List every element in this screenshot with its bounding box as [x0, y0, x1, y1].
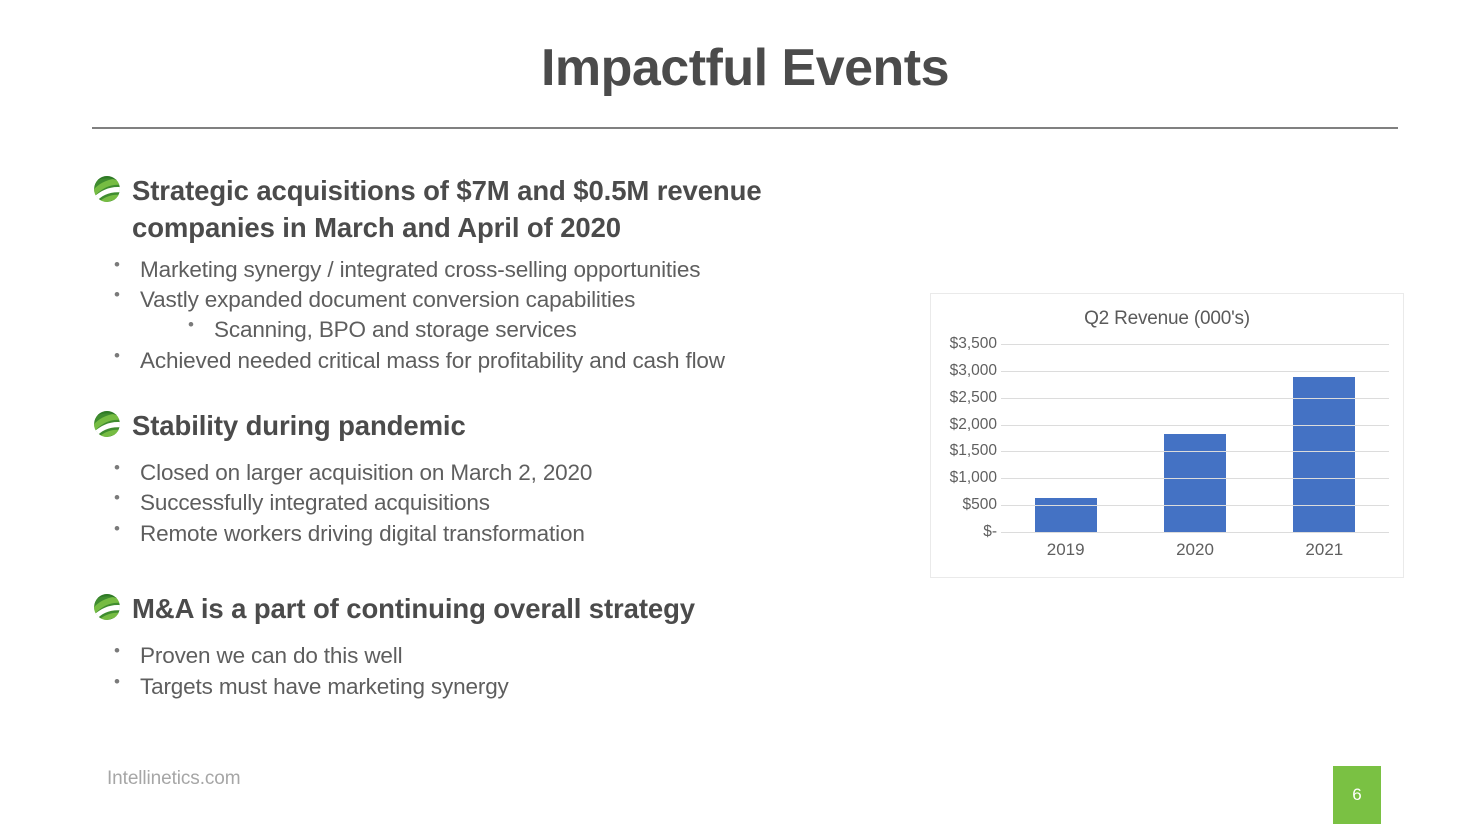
chart-title: Q2 Revenue (000's): [931, 308, 1403, 330]
chart-x-axis-labels: 201920202021: [1001, 540, 1389, 560]
chart-gridline: [1001, 505, 1389, 506]
list-item: Successfully integrated acquisitions: [92, 488, 902, 517]
chart-gridline: [1001, 398, 1389, 399]
bullet-list: Proven we can do this well Targets must …: [92, 641, 902, 701]
list-item: Marketing synergy / integrated cross-sel…: [92, 255, 902, 284]
chart-bar-slot: [1001, 344, 1130, 532]
chart-bar: [1293, 377, 1355, 532]
page-title: Impactful Events: [92, 40, 1398, 97]
chart-y-tick-label: $-: [983, 523, 997, 541]
revenue-bar-chart: Q2 Revenue (000's) $-$500$1,000$1,500$2,…: [930, 293, 1404, 578]
bullet-list: Marketing synergy / integrated cross-sel…: [92, 255, 902, 375]
chart-y-tick-label: $1,000: [950, 469, 997, 487]
list-item: Remote workers driving digital transform…: [92, 519, 902, 548]
title-divider: [92, 127, 1398, 129]
chart-y-tick-label: $3,500: [950, 335, 997, 353]
chart-gridline: [1001, 344, 1389, 345]
list-item: Closed on larger acquisition on March 2,…: [92, 458, 902, 487]
list-item: Vastly expanded document conversion capa…: [92, 285, 902, 314]
chart-gridline: [1001, 425, 1389, 426]
chart-y-tick-label: $2,000: [950, 416, 997, 434]
chart-bar-slot: [1260, 344, 1389, 532]
chart-y-tick-label: $3,000: [950, 362, 997, 380]
section-heading-row: Strategic acquisitions of $7M and $0.5M …: [92, 172, 902, 247]
list-item: Targets must have marketing synergy: [92, 672, 902, 701]
chart-x-tick-label: 2019: [1001, 540, 1130, 560]
intellinetics-globe-icon: [92, 592, 122, 622]
chart-y-tick-label: $2,500: [950, 389, 997, 407]
page-number-badge: 6: [1333, 766, 1381, 824]
section-stability-during-pandemic: Stability during pandemic Closed on larg…: [92, 407, 902, 548]
chart-gridline: [1001, 478, 1389, 479]
chart-bars: [1001, 344, 1389, 532]
footer-website-link[interactable]: Intellinetics.com: [107, 768, 240, 790]
chart-y-axis-labels: $-$500$1,000$1,500$2,000$2,500$3,000$3,5…: [931, 344, 997, 532]
chart-bar: [1164, 434, 1226, 532]
chart-gridline: [1001, 451, 1389, 452]
slide: Impactful Events: [0, 0, 1467, 825]
section-heading-text: M&A is a part of continuing overall stra…: [132, 590, 695, 627]
section-heading-row: M&A is a part of continuing overall stra…: [92, 590, 902, 627]
list-item-sub: Scanning, BPO and storage services: [92, 315, 902, 344]
list-item: Proven we can do this well: [92, 641, 902, 670]
section-heading-text: Strategic acquisitions of $7M and $0.5M …: [132, 172, 902, 247]
chart-gridline: [1001, 371, 1389, 372]
section-strategic-acquisitions: Strategic acquisitions of $7M and $0.5M …: [92, 172, 902, 375]
intellinetics-globe-icon: [92, 174, 122, 204]
content-column: Strategic acquisitions of $7M and $0.5M …: [92, 172, 902, 703]
section-mna-strategy: M&A is a part of continuing overall stra…: [92, 590, 902, 701]
section-heading-row: Stability during pandemic: [92, 407, 902, 444]
list-item: Achieved needed critical mass for profit…: [92, 346, 902, 375]
intellinetics-globe-icon: [92, 409, 122, 439]
chart-plot-area: $-$500$1,000$1,500$2,000$2,500$3,000$3,5…: [931, 344, 1405, 579]
chart-grid: [1001, 344, 1389, 532]
chart-x-tick-label: 2020: [1130, 540, 1259, 560]
bullet-list: Closed on larger acquisition on March 2,…: [92, 458, 902, 548]
section-heading-text: Stability during pandemic: [132, 407, 466, 444]
chart-x-tick-label: 2021: [1260, 540, 1389, 560]
chart-bar: [1035, 498, 1097, 532]
chart-y-tick-label: $500: [963, 496, 997, 514]
chart-bar-slot: [1130, 344, 1259, 532]
chart-gridline: [1001, 532, 1389, 533]
chart-y-tick-label: $1,500: [950, 442, 997, 460]
